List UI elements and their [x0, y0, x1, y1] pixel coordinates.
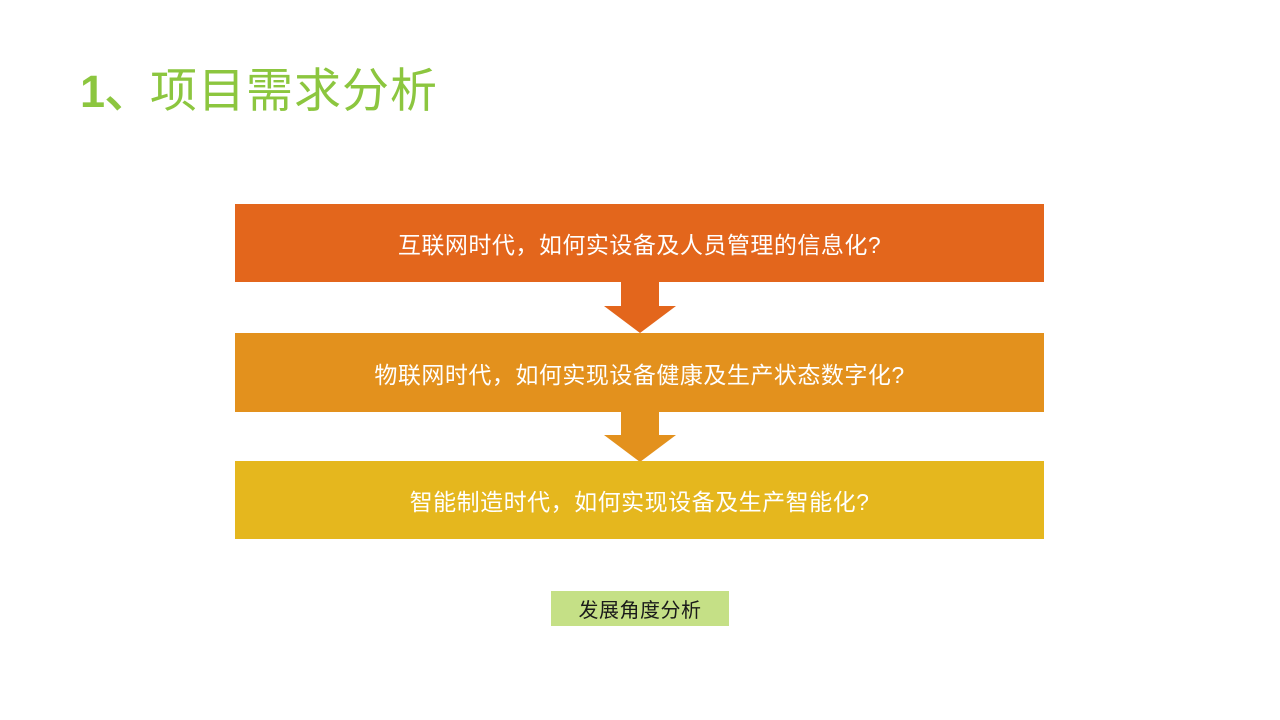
slide-canvas: 1、项目需求分析 互联网时代，如何实设备及人员管理的信息化? 物联网时代，如何实… — [0, 0, 1280, 720]
flow-step-3-label: 智能制造时代，如何实现设备及生产智能化? — [410, 483, 870, 517]
caption-label: 发展角度分析 — [579, 594, 702, 623]
page-title-text: 项目需求分析 — [150, 64, 438, 117]
page-title: 1、项目需求分析 — [80, 64, 438, 118]
flow-step-1[interactable]: 互联网时代，如何实设备及人员管理的信息化? — [235, 204, 1044, 282]
page-title-number: 1、 — [80, 66, 150, 117]
flow-step-2[interactable]: 物联网时代，如何实现设备健康及生产状态数字化? — [235, 333, 1044, 412]
flow-step-1-label: 互联网时代，如何实设备及人员管理的信息化? — [398, 226, 881, 260]
flow-step-2-label: 物联网时代，如何实现设备健康及生产状态数字化? — [374, 356, 904, 390]
caption-badge: 发展角度分析 — [551, 591, 729, 626]
down-block-arrow-icon-2 — [604, 410, 676, 462]
flow-step-3[interactable]: 智能制造时代，如何实现设备及生产智能化? — [235, 461, 1044, 539]
down-block-arrow-icon-1 — [604, 281, 676, 333]
